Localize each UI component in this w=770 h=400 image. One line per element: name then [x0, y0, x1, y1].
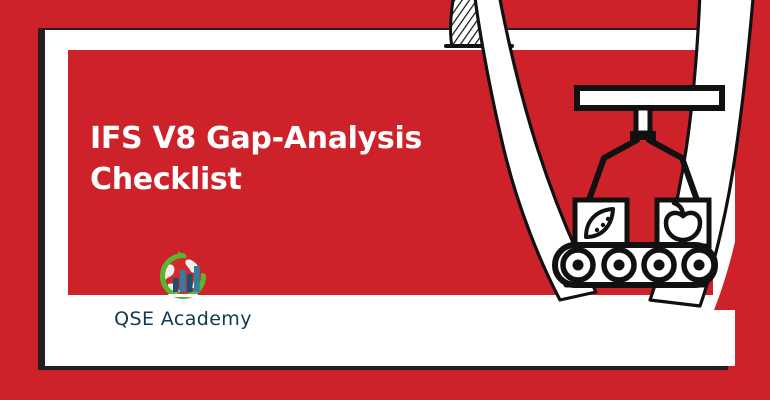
brand-wordmark: QSE Academy [108, 308, 258, 330]
brand-logo: QSE Academy [108, 248, 258, 330]
page-title: IFS V8 Gap-Analysis Checklist [90, 118, 490, 200]
globe-bar-chart-arrow-logo [154, 248, 212, 306]
slide-canvas: IFS V8 Gap-Analysis Checklist [0, 0, 770, 400]
